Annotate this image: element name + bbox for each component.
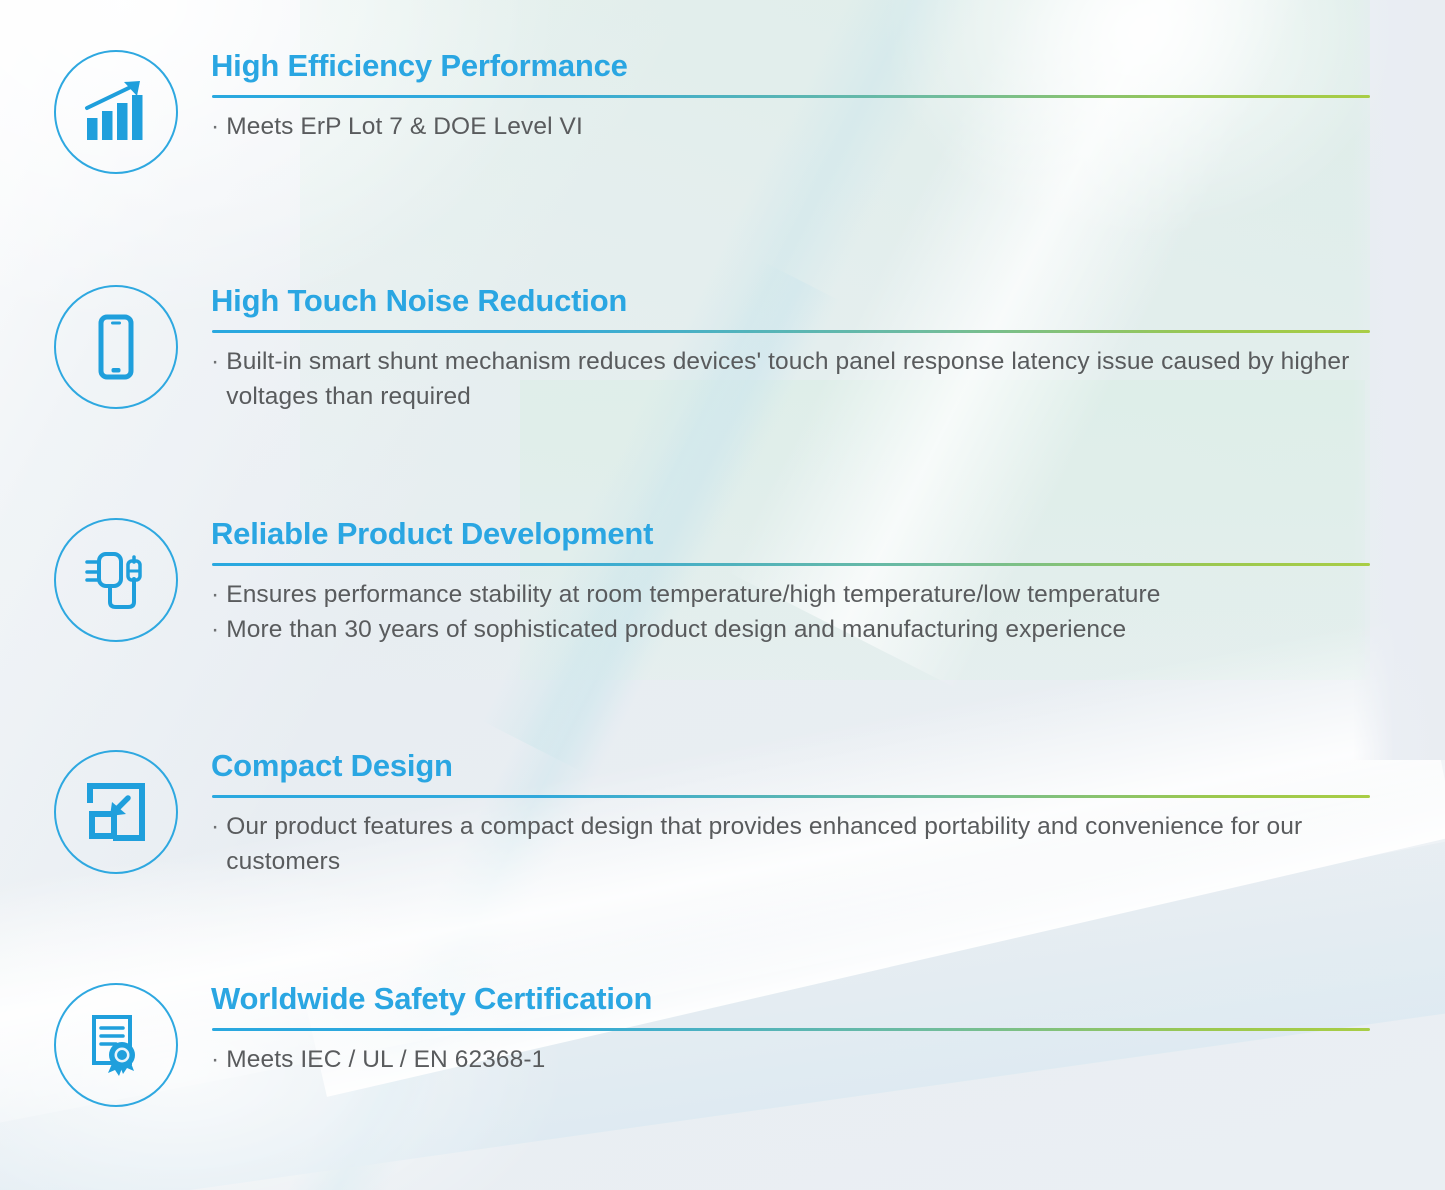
feature-title: Compact Design (211, 750, 1375, 783)
feature-body: Compact Design · Our product features a … (211, 750, 1375, 879)
feature-bullet-text: Ensures performance stability at room te… (226, 577, 1375, 612)
feature-bullet-list: · Built-in smart shunt mechanism reduces… (211, 344, 1375, 415)
certificate-badge-icon (82, 1011, 150, 1079)
bullet-dot: · (211, 809, 219, 844)
bar-chart-growth-icon (82, 78, 150, 146)
smartphone-icon (82, 313, 150, 381)
feature-list: High Efficiency Performance · Meets ErP … (0, 0, 1445, 1190)
feature-divider-rule (212, 563, 1370, 566)
feature-bullet-list: · Meets IEC / UL / EN 62368-1 (211, 1042, 1375, 1077)
feature-body: High Touch Noise Reduction · Built-in sm… (211, 285, 1375, 414)
power-adapter-icon (82, 546, 150, 614)
feature-icon-container (54, 983, 178, 1107)
bullet-dot: · (211, 1042, 219, 1077)
feature-title: Worldwide Safety Certification (211, 983, 1375, 1016)
feature-divider-rule (212, 795, 1370, 798)
feature-icon-container (54, 50, 178, 174)
bullet-dot: · (211, 344, 219, 379)
bullet-dot: · (211, 612, 219, 647)
feature-bullet-text: Our product features a compact design th… (226, 809, 1375, 880)
feature-title: High Touch Noise Reduction (211, 285, 1375, 318)
feature-divider-rule (212, 1028, 1370, 1031)
feature-bullet-text: Built-in smart shunt mechanism reduces d… (226, 344, 1375, 415)
feature-bullet-line: · More than 30 years of sophisticated pr… (211, 612, 1375, 647)
feature-bullet-text: Meets IEC / UL / EN 62368-1 (226, 1042, 1375, 1077)
feature-body: Reliable Product Development · Ensures p… (211, 518, 1375, 647)
feature-bullet-list: · Meets ErP Lot 7 & DOE Level VI (211, 109, 1375, 144)
feature-bullet-text: More than 30 years of sophisticated prod… (226, 612, 1375, 647)
feature-bullet-list: · Our product features a compact design … (211, 809, 1375, 880)
feature-bullet-list: · Ensures performance stability at room … (211, 577, 1375, 648)
feature-bullet-line: · Meets IEC / UL / EN 62368-1 (211, 1042, 1375, 1077)
feature-icon-container (54, 750, 178, 874)
bullet-dot: · (211, 577, 219, 612)
feature-title: Reliable Product Development (211, 518, 1375, 551)
feature-body: High Efficiency Performance · Meets ErP … (211, 50, 1375, 144)
feature-bullet-line: · Ensures performance stability at room … (211, 577, 1375, 612)
feature-bullet-line: · Meets ErP Lot 7 & DOE Level VI (211, 109, 1375, 144)
feature-divider-rule (212, 330, 1370, 333)
bullet-dot: · (211, 109, 219, 144)
feature-bullet-text: Meets ErP Lot 7 & DOE Level VI (226, 109, 1375, 144)
feature-highlights-page: High Efficiency Performance · Meets ErP … (0, 0, 1445, 1190)
feature-bullet-line: · Built-in smart shunt mechanism reduces… (211, 344, 1375, 415)
feature-divider-rule (212, 95, 1370, 98)
feature-icon-container (54, 285, 178, 409)
feature-body: Worldwide Safety Certification · Meets I… (211, 983, 1375, 1077)
feature-bullet-line: · Our product features a compact design … (211, 809, 1375, 880)
feature-title: High Efficiency Performance (211, 50, 1375, 83)
compact-resize-icon (82, 778, 150, 846)
feature-icon-container (54, 518, 178, 642)
